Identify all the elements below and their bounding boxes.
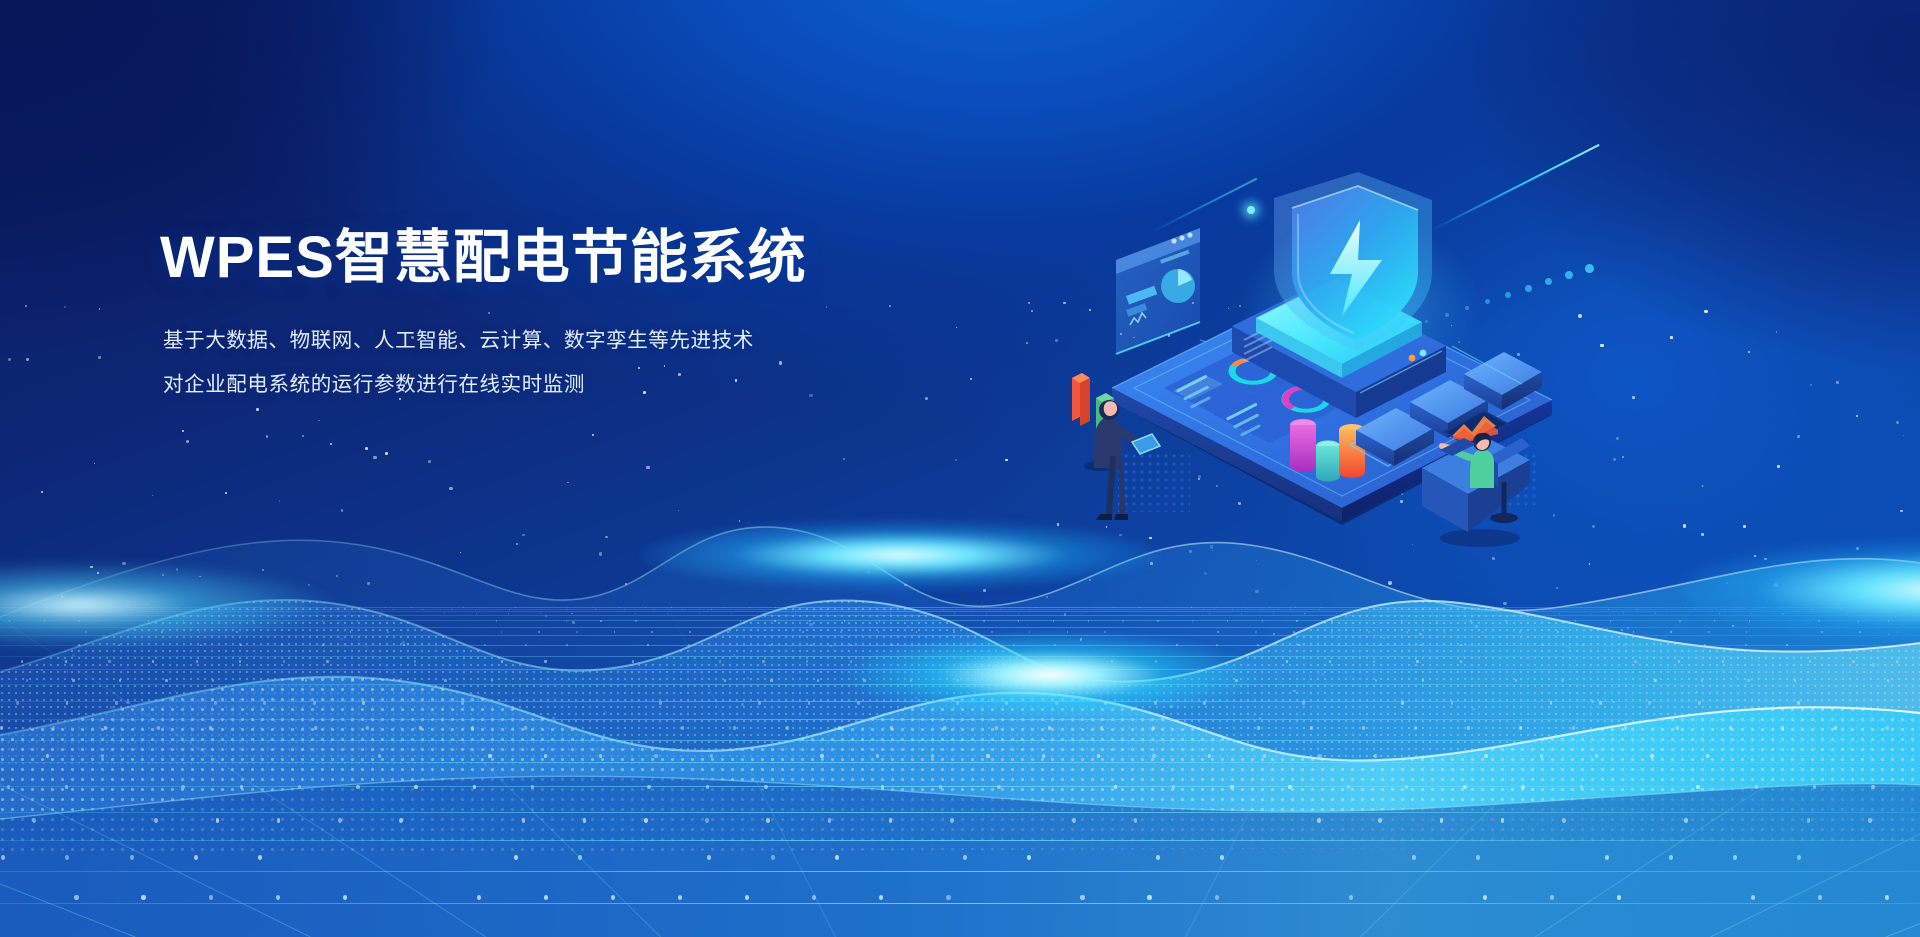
page-title: WPES智慧配电节能系统 (160, 228, 807, 288)
analytics-window-icon (1116, 228, 1200, 354)
hero-text-block: WPES智慧配电节能系统 基于大数据、物联网、人工智能、云计算、数字孪生等先进技… (160, 228, 807, 414)
hero-banner: WPES智慧配电节能系统 基于大数据、物联网、人工智能、云计算、数字孪生等先进技… (0, 0, 1920, 937)
subtitle-line-1: 基于大数据、物联网、人工智能、云计算、数字孪生等先进技术 (163, 326, 807, 356)
floor-particle-dots (0, 607, 1920, 937)
hero-subtitle: 基于大数据、物联网、人工智能、云计算、数字孪生等先进技术 对企业配电系统的运行参… (163, 326, 807, 399)
subtitle-line-2: 对企业配电系统的运行参数进行在线实时监测 (163, 370, 807, 400)
isometric-illustration (1060, 150, 1600, 580)
